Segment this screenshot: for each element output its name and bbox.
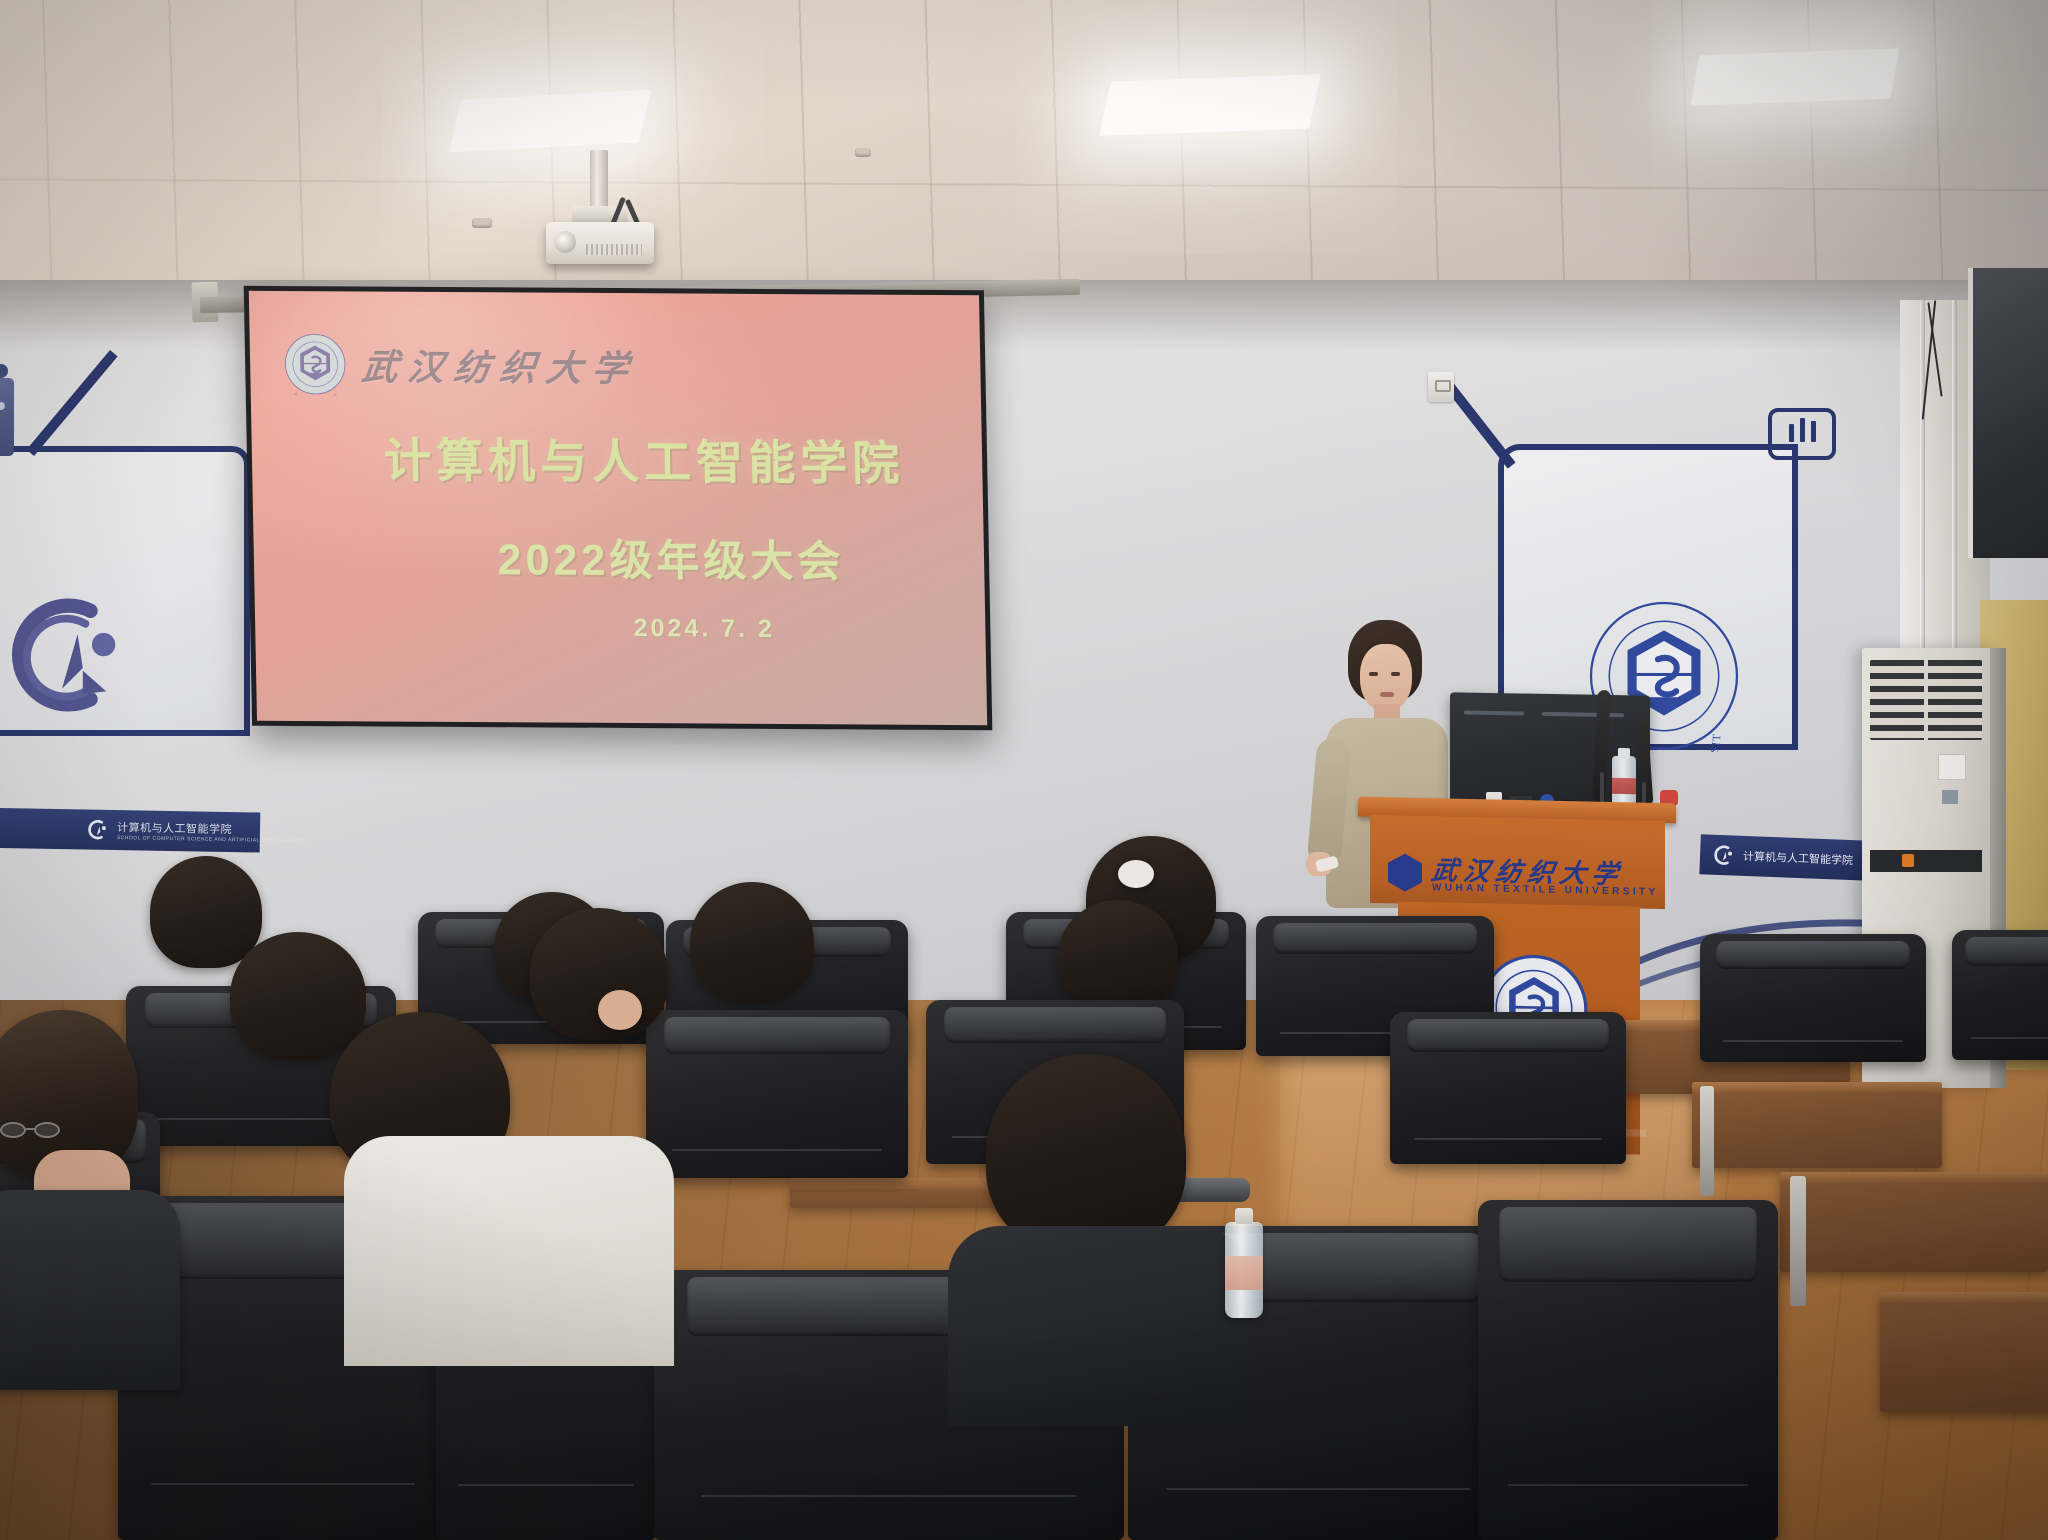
desk-leg-2 xyxy=(1790,1176,1806,1306)
audience-head-m1 xyxy=(230,932,366,1060)
wall-outlet[interactable] xyxy=(1428,372,1454,402)
projector-icon xyxy=(546,222,654,264)
college-logo-icon xyxy=(10,590,140,720)
university-seal-icon-slide: 武汉纺织大学 WUHAN TEXTILE UNIVERSITY xyxy=(284,333,347,395)
water-bottle-icon-desk[interactable] xyxy=(1225,1222,1263,1318)
audience-torso-f3 xyxy=(948,1226,1248,1426)
projection-screen-border: 武汉纺织大学 WUHAN TEXTILE UNIVERSITY 武汉纺织大学 计… xyxy=(244,286,993,730)
ac-display-panel[interactable] xyxy=(1870,850,1982,872)
projection-screen-surface: 武汉纺织大学 WUHAN TEXTILE UNIVERSITY 武汉纺织大学 计… xyxy=(249,291,987,725)
podium-hex-logo-icon xyxy=(1388,853,1422,892)
college-logo-small-icon xyxy=(88,819,110,841)
audience-head-b1 xyxy=(150,856,262,968)
presenter-mouth xyxy=(1380,692,1394,697)
slide-title: 计算机与人工智能学院 xyxy=(285,421,957,494)
wall-display-panel xyxy=(1968,268,2048,558)
college-logo-small-icon-right xyxy=(1714,844,1737,867)
slide-content: 武汉纺织大学 WUHAN TEXTILE UNIVERSITY 武汉纺织大学 计… xyxy=(249,291,987,725)
left-wall-band: 计算机与人工智能学院 SCHOOL OF COMPUTER SCIENCE AN… xyxy=(0,807,260,852)
presenter-face xyxy=(1360,644,1412,712)
audience-ear-m2 xyxy=(598,990,642,1030)
audience-shirt-f2 xyxy=(344,1136,674,1366)
audience-torso-f1 xyxy=(0,1190,180,1390)
ceiling-light-3 xyxy=(1691,48,1900,105)
projector-vent xyxy=(586,244,642,255)
bar-chart-wall-icon xyxy=(1768,408,1836,460)
ceiling xyxy=(0,0,2048,300)
lecture-hall-scene: 计算机与人工智能学院 SCHOOL OF COMPUTER SCIENCE AN… xyxy=(0,0,2048,1540)
ceiling-shading xyxy=(0,0,2048,300)
slide-subtitle: 2022级年级大会 xyxy=(287,524,958,590)
wall-speaker-icon xyxy=(0,378,14,456)
right-band-label: 计算机与人工智能学院 xyxy=(1743,848,1854,868)
projection-screen: 武汉纺织大学 WUHAN TEXTILE UNIVERSITY 武汉纺织大学 计… xyxy=(244,286,993,730)
water-bottle-icon-podium[interactable] xyxy=(1612,756,1636,808)
projector-pole xyxy=(590,150,608,212)
slide-university-name: 武汉纺织大学 xyxy=(360,339,641,393)
smoke-detector-2 xyxy=(855,148,871,157)
desk-row-right-3 xyxy=(1780,1172,2048,1272)
ceiling-light-1 xyxy=(449,90,651,153)
audience-head-f3 xyxy=(986,1054,1186,1254)
eyeglasses-icon xyxy=(0,1122,64,1138)
desk-row-right-2 xyxy=(1692,1082,1942,1168)
podium-university-name-en: WUHAN TEXTILE UNIVERSITY xyxy=(1432,882,1659,898)
projector-lens xyxy=(554,231,576,253)
ceiling-light-2 xyxy=(1099,74,1320,136)
ac-grille-divider xyxy=(1924,660,1928,740)
slide-date: 2024. 7. 2 xyxy=(289,612,960,645)
desk-row-right-4 xyxy=(1880,1292,2048,1412)
podium-front-face: 武汉纺织大学 WUHAN TEXTILE UNIVERSITY xyxy=(1370,815,1665,909)
ac-badge xyxy=(1942,790,1958,804)
audience-head-m2 xyxy=(530,908,668,1040)
audience-hair-clip xyxy=(1118,860,1154,888)
ac-energy-label xyxy=(1938,754,1966,780)
audience-head-b3 xyxy=(690,882,814,1002)
seat-row1-5[interactable] xyxy=(1478,1200,1778,1540)
seat-row3-5[interactable] xyxy=(1700,934,1926,1062)
seat-row3-6[interactable] xyxy=(1952,930,2048,1060)
desk-leg-1 xyxy=(1700,1086,1714,1196)
audience-head-b5 xyxy=(1058,900,1178,1012)
slide-header: 武汉纺织大学 WUHAN TEXTILE UNIVERSITY 武汉纺织大学 xyxy=(284,333,955,399)
seat-row2-4[interactable] xyxy=(1390,1012,1626,1164)
seat-row2-2[interactable] xyxy=(646,1010,908,1178)
smoke-detector-1 xyxy=(472,218,492,228)
